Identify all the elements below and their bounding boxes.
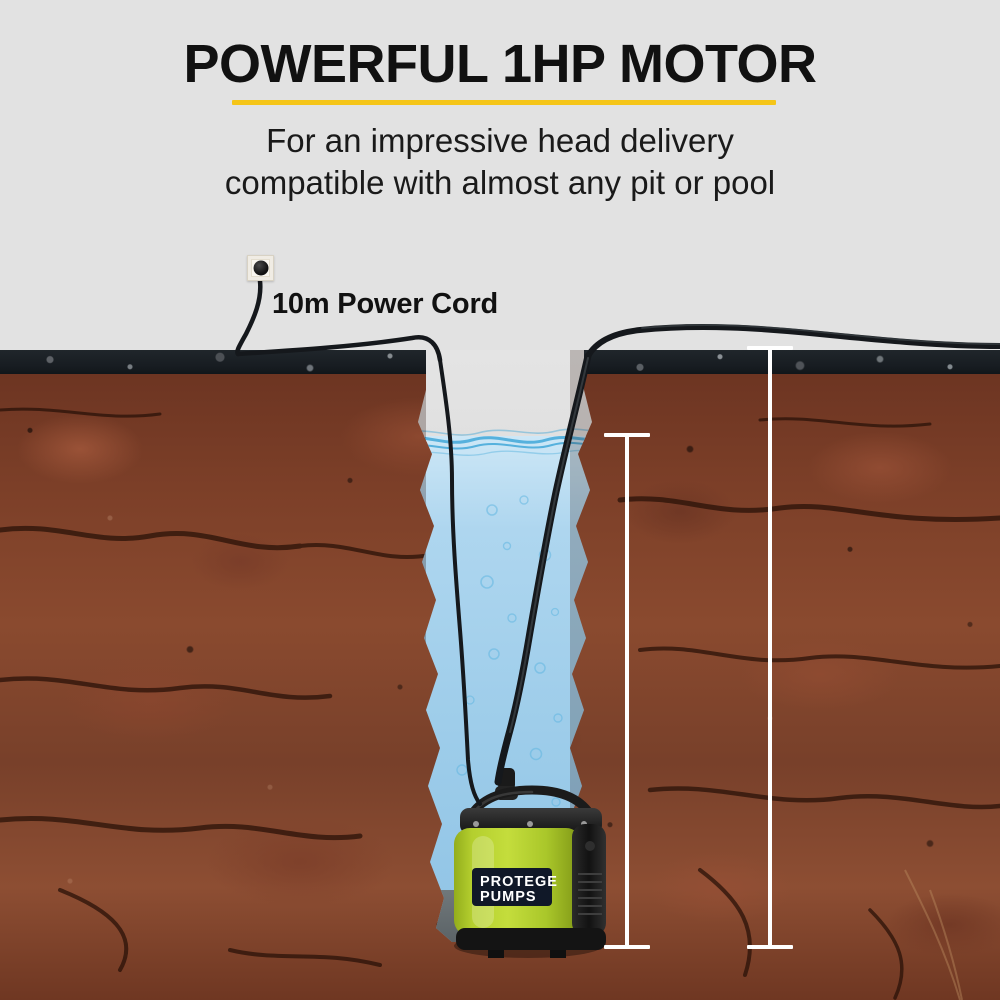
infographic-canvas: PROTEGE PUMPS 7M 8.5M 10m Power Cord POW…	[0, 0, 1000, 1000]
cord-length-label: 10m Power Cord	[272, 288, 498, 321]
cord-descend-left	[440, 360, 480, 804]
page-title: POWERFUL 1HP MOTOR	[0, 33, 1000, 95]
title-divider	[232, 100, 776, 105]
cord-descend-right	[498, 356, 588, 782]
wall-socket-icon	[247, 255, 274, 281]
header-block: POWERFUL 1HP MOTOR For an impressive hea…	[0, 0, 1000, 350]
subtitle-line-1: For an impressive head delivery	[0, 120, 1000, 162]
socket-plug	[253, 261, 268, 276]
page-subtitle: For an impressive head delivery compatib…	[0, 120, 1000, 204]
subtitle-line-2: compatible with almost any pit or pool	[0, 162, 1000, 204]
